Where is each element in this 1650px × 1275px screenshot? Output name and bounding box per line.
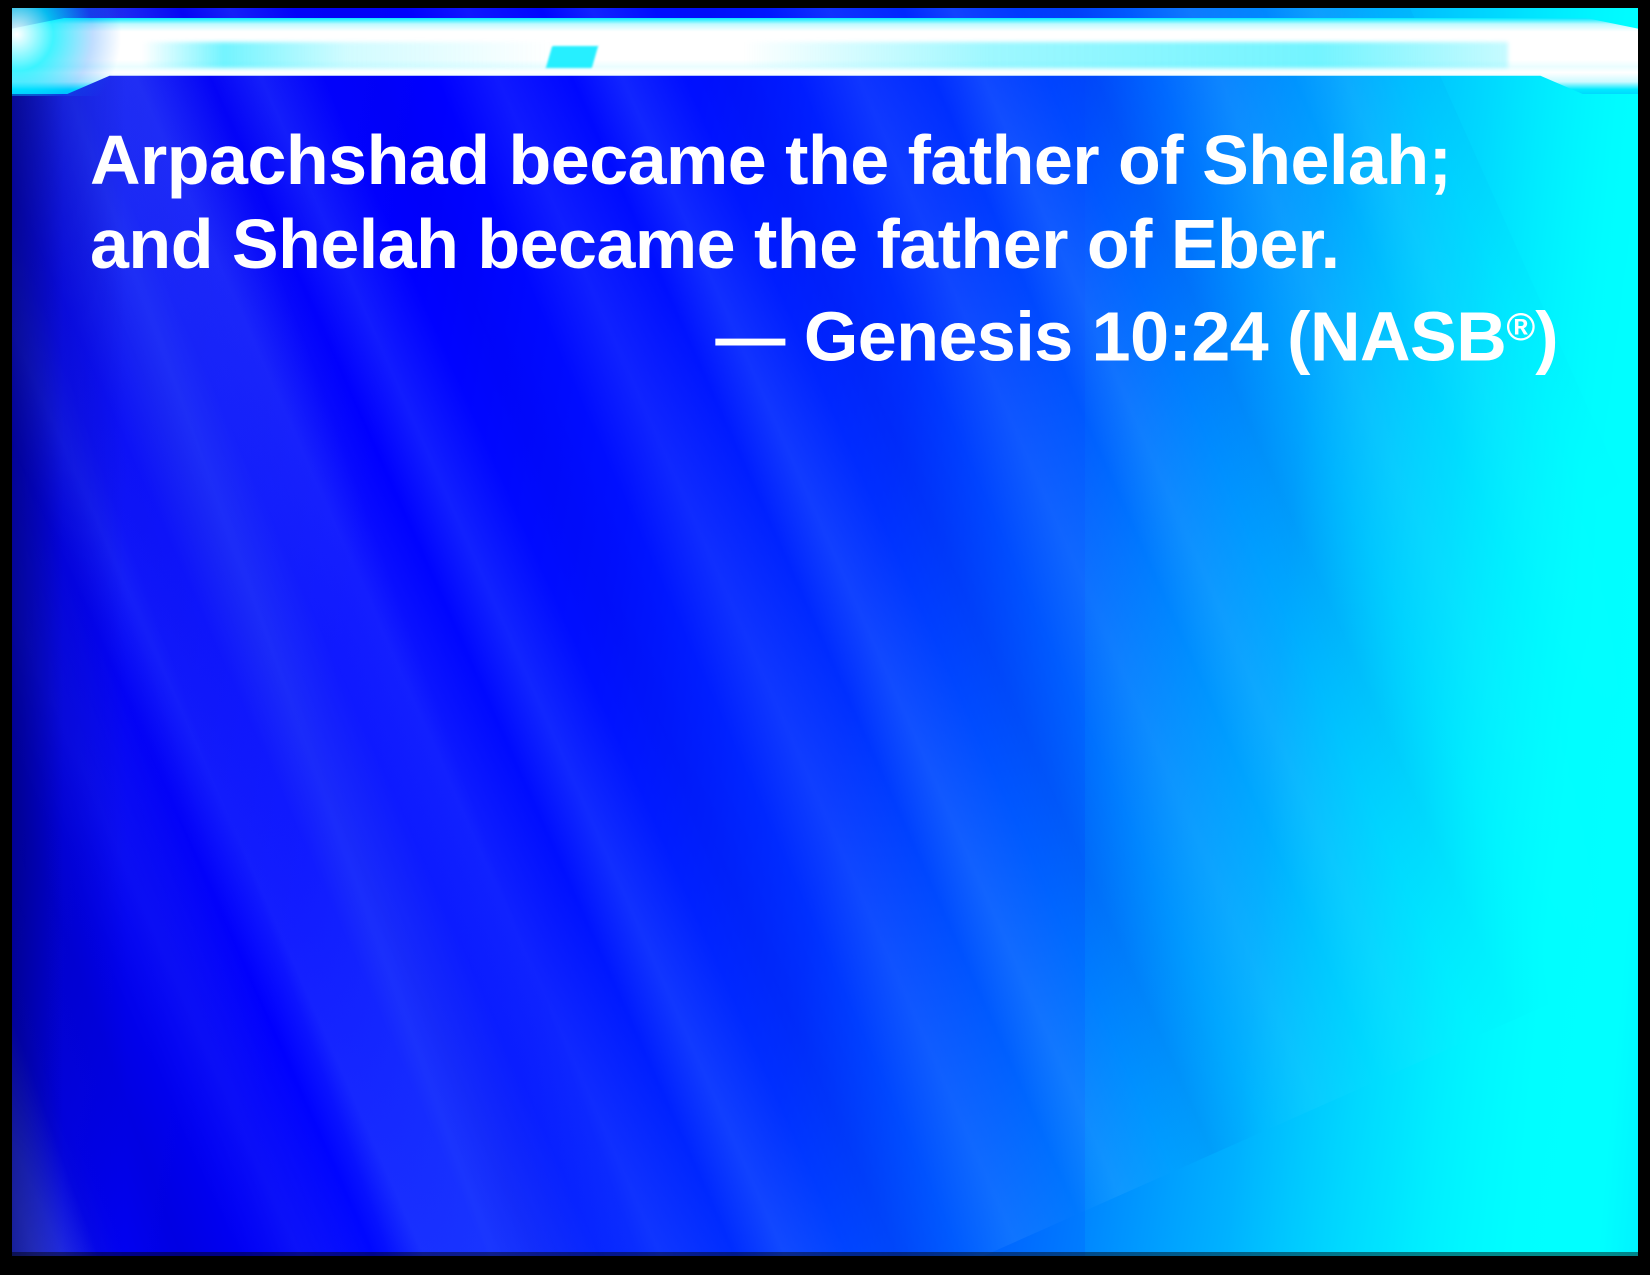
registered-trademark-icon: ® <box>1506 306 1535 349</box>
citation-closing-paren: ) <box>1535 297 1558 375</box>
verse-line-2: and Shelah became the father of Eber. <box>90 202 1570 286</box>
verse-citation: — Genesis 10:24 (NASB®) <box>90 286 1570 378</box>
citation-reference-text: — Genesis 10:24 (NASB <box>715 297 1506 375</box>
slide-canvas: Arpachshad became the father of Shelah; … <box>12 8 1638 1256</box>
verse-line-1: Arpachshad became the father of Shelah; <box>90 118 1570 202</box>
verse-text-block: Arpachshad became the father of Shelah; … <box>90 118 1570 378</box>
scripture-slide: Arpachshad became the father of Shelah; … <box>0 0 1650 1275</box>
